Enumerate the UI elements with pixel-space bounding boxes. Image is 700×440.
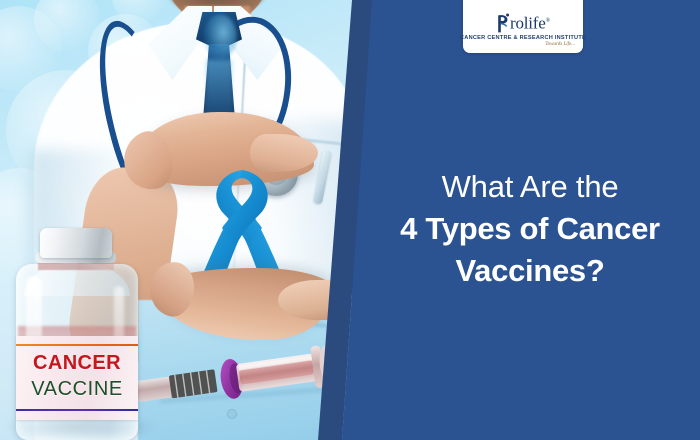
bokeh-circle [34, 0, 100, 52]
headline-line-1: What Are the [372, 166, 688, 208]
vial-label-rule-top [16, 344, 138, 346]
brand-logo[interactable]: rolife® CANCER CENTRE & RESEARCH INSTITU… [463, 0, 583, 53]
bokeh-circle [0, 6, 62, 92]
syringe-icon [112, 344, 350, 416]
vial-label: CANCER VACCINE [16, 336, 138, 420]
logo-tagline: Towards Life... [545, 42, 575, 47]
promo-banner: CANCER VACCINE rolife® CANCER CENTRE & R… [0, 0, 700, 440]
logo-wordmark: rolife® [510, 12, 550, 33]
stylized-p-monogram-icon [496, 13, 511, 33]
necktie-highlight [203, 14, 237, 60]
logo-mark-row: rolife® [496, 13, 550, 33]
registered-trademark-mark: ® [546, 18, 550, 24]
logo-subtitle: CANCER CENTRE & RESEARCH INSTITUTE [460, 35, 586, 41]
headline-line-3: Vaccines? [372, 250, 688, 292]
headline-line-2: 4 Types of Cancer [372, 208, 688, 250]
vial-label-vaccine-text: VACCINE [16, 378, 138, 401]
vial-label-cancer-text: CANCER [16, 352, 138, 375]
doctor-photo: CANCER VACCINE [0, 0, 352, 440]
vial-cap [40, 228, 112, 258]
vial-label-rule-bottom [16, 409, 138, 411]
page-title: What Are the 4 Types of Cancer Vaccines? [372, 166, 688, 292]
